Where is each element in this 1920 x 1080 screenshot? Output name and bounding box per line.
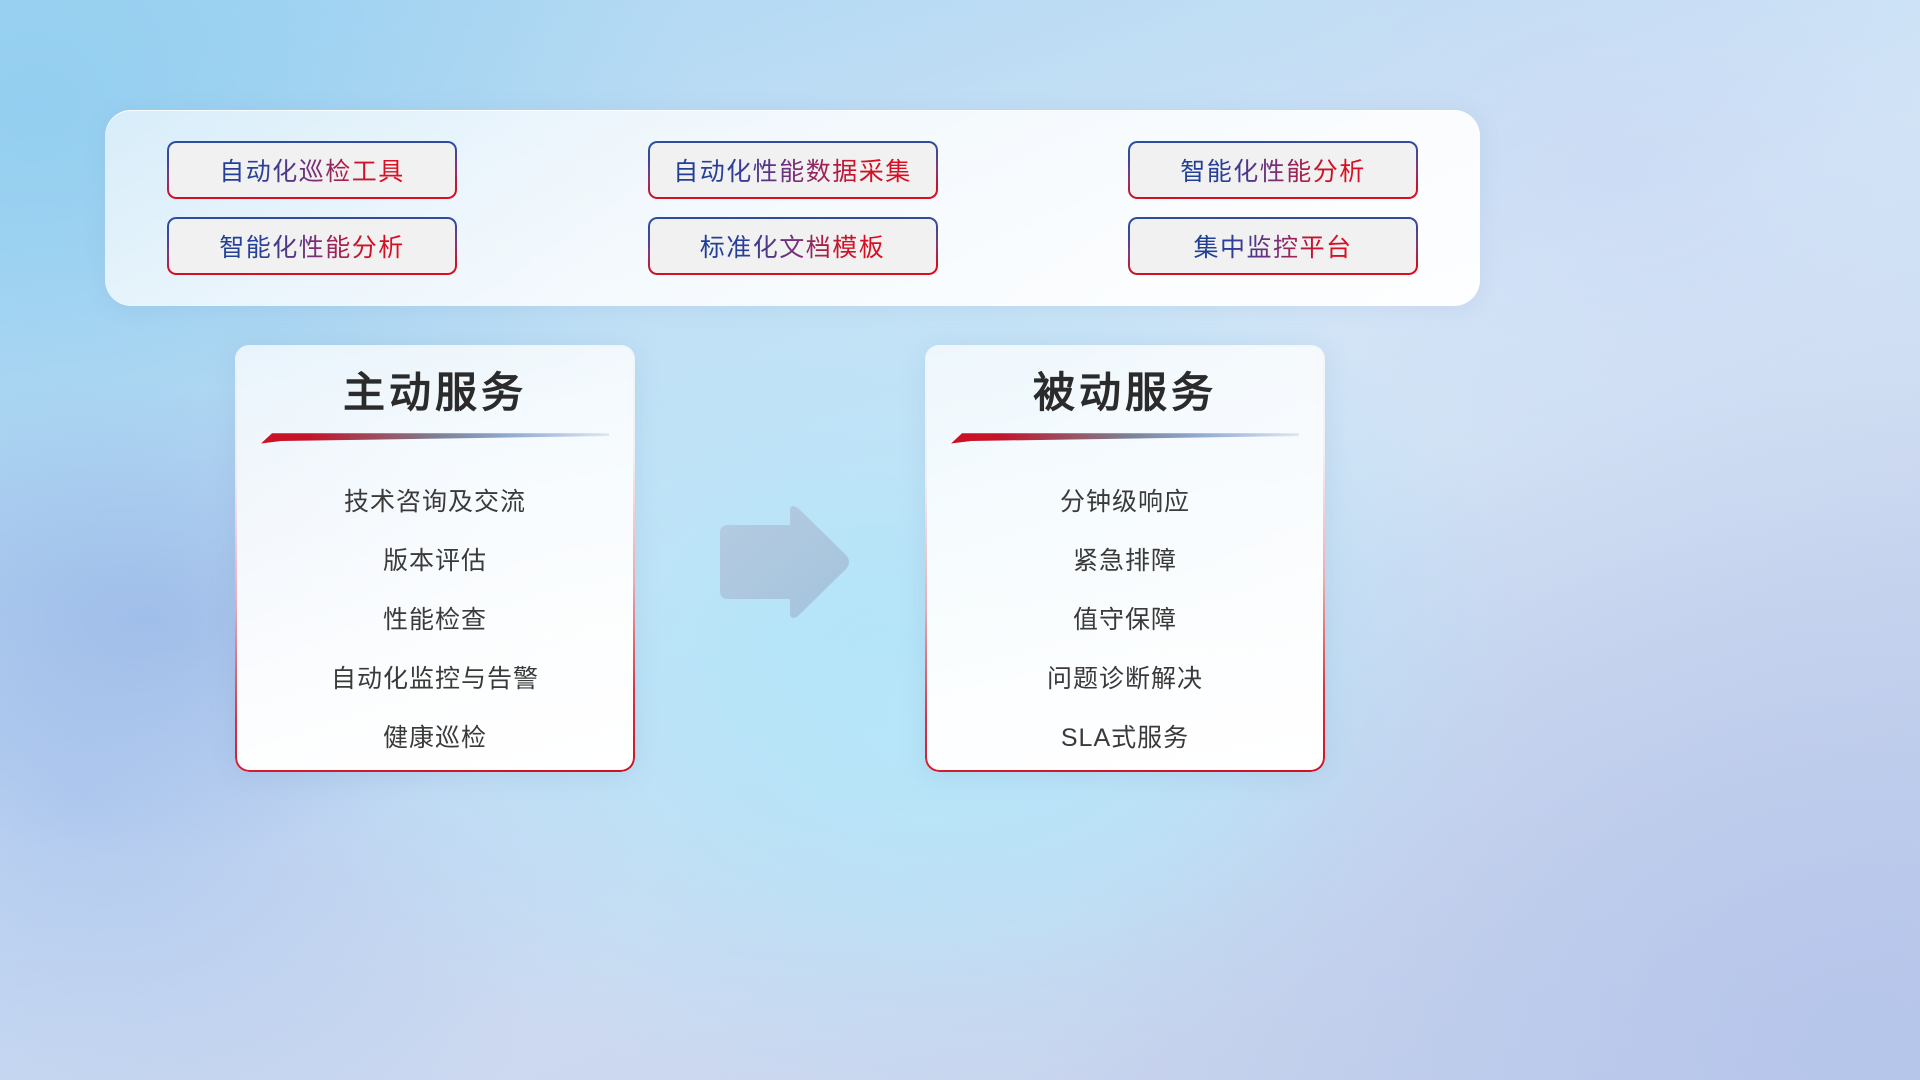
capability-tag-label: 自动化性能数据采集	[673, 152, 912, 188]
list-item: 值守保障	[1073, 591, 1177, 650]
list-item: 性能检查	[383, 591, 487, 650]
title-divider-active	[261, 432, 609, 445]
service-card-passive-body: 被动服务	[925, 345, 1325, 772]
service-card-active-body: 主动服务	[235, 345, 635, 772]
list-item: SLA式服务	[1061, 709, 1189, 768]
list-item: 分钟级响应	[1060, 473, 1190, 532]
list-item: 问题诊断解决	[1047, 650, 1203, 709]
capabilities-row-2: 智能化性能分析 标准化文档模板 集中监控平台	[167, 217, 1418, 275]
capability-tag-label: 集中监控平台	[1193, 228, 1352, 264]
slide-canvas: 自动化巡检工具 自动化性能数据采集 智能化性能分析 智能化性能分析 标准化文档模…	[0, 0, 1920, 1080]
capability-tag-label: 智能化性能分析	[1180, 152, 1366, 188]
capability-tag-label: 标准化文档模板	[700, 228, 886, 264]
service-card-passive-title: 被动服务	[1033, 367, 1217, 418]
service-card-active[interactable]: 主动服务	[235, 345, 635, 772]
capability-tag-intelligent-performance-analysis-bottom[interactable]: 智能化性能分析	[167, 217, 457, 275]
right-arrow-icon	[712, 503, 852, 621]
list-item: 自动化监控与告警	[331, 650, 539, 709]
service-card-active-title: 主动服务	[343, 367, 527, 418]
list-item: 版本评估	[383, 532, 487, 591]
capabilities-row-1: 自动化巡检工具 自动化性能数据采集 智能化性能分析	[167, 141, 1418, 199]
capability-tag-automated-performance-data-collection[interactable]: 自动化性能数据采集	[648, 141, 938, 199]
capabilities-panel: 自动化巡检工具 自动化性能数据采集 智能化性能分析 智能化性能分析 标准化文档模…	[105, 110, 1480, 306]
capability-tag-label: 智能化性能分析	[219, 228, 405, 264]
capability-tag-automated-inspection-tool[interactable]: 自动化巡检工具	[167, 141, 457, 199]
capability-tag-standardized-doc-template[interactable]: 标准化文档模板	[648, 217, 938, 275]
list-item: 紧急排障	[1073, 532, 1177, 591]
list-item: 技术咨询及交流	[344, 473, 526, 532]
capability-tag-centralized-monitoring-platform[interactable]: 集中监控平台	[1128, 217, 1418, 275]
service-card-passive-items: 分钟级响应 紧急排障 值守保障 问题诊断解决 SLA式服务	[925, 473, 1325, 768]
list-item: 健康巡检	[383, 709, 487, 768]
capability-tag-label: 自动化巡检工具	[219, 152, 405, 188]
capability-tag-intelligent-performance-analysis-top[interactable]: 智能化性能分析	[1128, 141, 1418, 199]
service-card-active-items: 技术咨询及交流 版本评估 性能检查 自动化监控与告警 健康巡检	[235, 473, 635, 768]
service-card-passive[interactable]: 被动服务	[925, 345, 1325, 772]
title-divider-passive	[951, 432, 1299, 445]
